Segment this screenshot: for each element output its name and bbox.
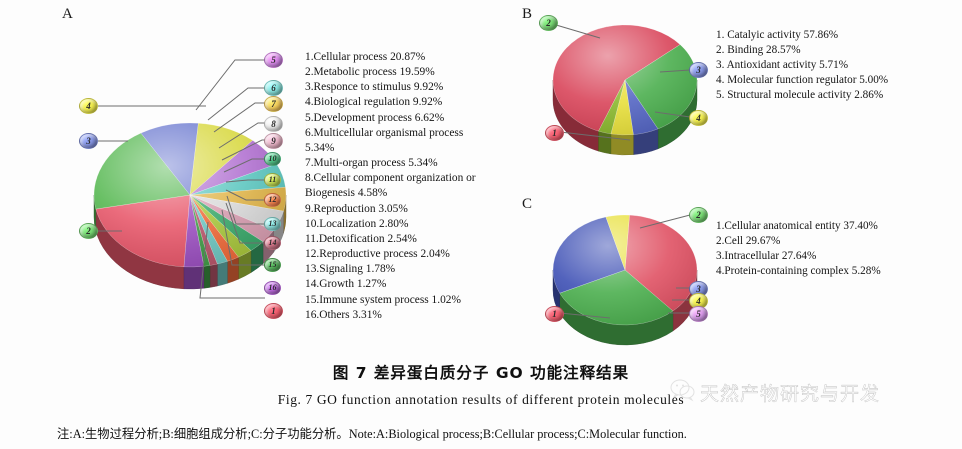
pie-c-svg: [548, 208, 708, 358]
callout-marker-c-1[interactable]: 1: [545, 306, 564, 322]
legend-a-item-7: 7.Multi-organ process 5.34%: [305, 156, 495, 171]
callout-marker-a-12[interactable]: 12: [264, 193, 281, 207]
legend-a-item-6: 6.Multicellular organismal process 5.34%: [305, 126, 495, 156]
pie-slice-side: [611, 134, 634, 155]
callout-marker-a-4[interactable]: 4: [79, 98, 98, 114]
legend-c-item-3: 3.Intracellular 27.64%: [716, 249, 931, 264]
callout-marker-a-5[interactable]: 5: [264, 52, 283, 68]
callout-marker-a-2[interactable]: 2: [79, 223, 98, 239]
legend-a-item-9: 9.Reproduction 3.05%: [305, 202, 495, 217]
legend-c-item-1: 1.Cellular anatomical entity 37.40%: [716, 219, 931, 234]
figure-caption-chinese: 图 7 差异蛋白质分子 GO 功能注释结果: [0, 361, 962, 383]
legend-a-item-4: 4.Biological regulation 9.92%: [305, 95, 495, 110]
pie-chart-c: [548, 208, 708, 358]
legend-panel-a: 1.Cellular process 20.87% 2.Metabolic pr…: [305, 50, 495, 323]
legend-b-item-2: 2. Binding 28.57%: [716, 43, 931, 58]
callout-marker-b-1[interactable]: 1: [545, 125, 564, 141]
callout-marker-a-7[interactable]: 7: [264, 96, 283, 112]
figure-canvas: A B C: [0, 0, 962, 449]
panel-letter-c: C: [522, 196, 533, 213]
callout-marker-b-3[interactable]: 3: [689, 62, 708, 78]
legend-a-item-1: 1.Cellular process 20.87%: [305, 50, 495, 65]
callout-marker-a-13[interactable]: 13: [264, 217, 281, 231]
callout-marker-b-2[interactable]: 2: [539, 15, 558, 31]
legend-a-item-11: 11.Detoxification 2.54%: [305, 232, 495, 247]
callout-marker-a-3[interactable]: 3: [79, 133, 98, 149]
callout-marker-a-11[interactable]: 11: [264, 173, 281, 187]
legend-a-item-3: 3.Responce to stimulus 9.92%: [305, 80, 495, 95]
legend-a-item-13: 13.Signaling 1.78%: [305, 262, 495, 277]
callout-marker-a-16[interactable]: 16: [264, 281, 281, 295]
callout-marker-c-5[interactable]: 5: [689, 306, 708, 322]
pie-slice-side: [184, 266, 204, 289]
pie-slice-side: [598, 131, 610, 154]
pie-slice-side: [227, 257, 238, 283]
figure-note: 注:A:生物过程分析;B:细胞组成分析;C:分子功能分析。Note:A:Biol…: [57, 424, 927, 442]
callout-marker-a-1[interactable]: 1: [264, 303, 283, 319]
callout-marker-a-8[interactable]: 8: [264, 116, 283, 132]
callout-marker-a-6[interactable]: 6: [264, 80, 283, 96]
legend-c-item-2: 2.Cell 29.67%: [716, 234, 931, 249]
callout-marker-b-4[interactable]: 4: [689, 110, 708, 126]
callout-marker-a-9[interactable]: 9: [264, 133, 283, 149]
callout-marker-a-10[interactable]: 10: [264, 152, 281, 166]
legend-panel-c: 1.Cellular anatomical entity 37.40% 2.Ce…: [716, 219, 931, 279]
legend-a-item-10: 10.Localization 2.80%: [305, 217, 495, 232]
panel-letter-b: B: [522, 6, 533, 23]
legend-b-item-4: 4. Molecular function regulator 5.00%: [716, 73, 931, 88]
pie-slice-side: [217, 261, 227, 286]
legend-a-item-15: 15.Immune system process 1.02%: [305, 293, 495, 308]
pie-slice-side: [210, 264, 217, 287]
legend-a-item-5: 5.Development process 6.62%: [305, 111, 495, 126]
callout-marker-a-15[interactable]: 15: [264, 258, 281, 272]
legend-b-item-3: 3. Antioxidant activity 5.71%: [716, 58, 931, 73]
legend-a-item-16: 16.Others 3.31%: [305, 308, 495, 323]
legend-a-item-14: 14.Growth 1.27%: [305, 277, 495, 292]
panel-letter-a: A: [62, 6, 73, 23]
legend-a-item-2: 2.Metabolic process 19.59%: [305, 65, 495, 80]
figure-caption-english: Fig. 7 GO function annotation results of…: [0, 392, 962, 408]
pie-slice-side: [204, 265, 210, 288]
legend-a-item-8: 8.Cellular component organization or Bio…: [305, 171, 495, 201]
pie-b-svg: [548, 18, 708, 168]
legend-panel-b: 1. Catalyic activity 57.86% 2. Binding 2…: [716, 28, 931, 102]
legend-b-item-1: 1. Catalyic activity 57.86%: [716, 28, 931, 43]
pie-chart-b: [548, 18, 708, 168]
legend-c-item-4: 4.Protein-containing complex 5.28%: [716, 264, 931, 279]
callout-marker-c-2[interactable]: 2: [689, 207, 708, 223]
legend-a-item-12: 12.Reproductive process 2.04%: [305, 247, 495, 262]
legend-b-item-5: 5. Structural molecule activity 2.86%: [716, 88, 931, 103]
callout-marker-a-14[interactable]: 14: [264, 236, 281, 250]
